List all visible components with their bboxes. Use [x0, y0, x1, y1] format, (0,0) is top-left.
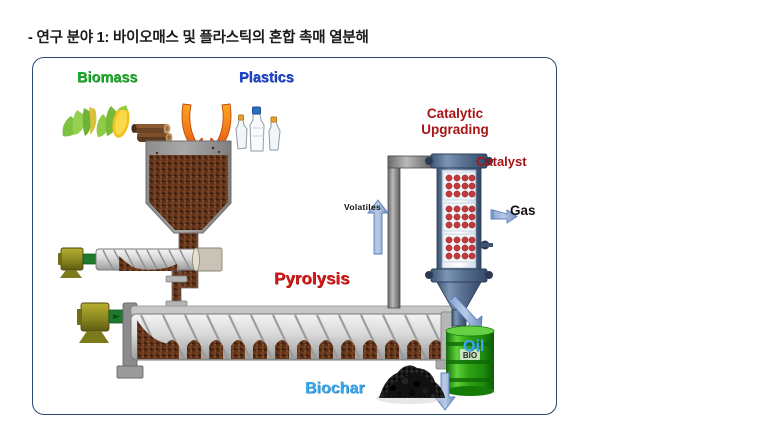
page-title: - 연구 분야 1: 바이오매스 및 플라스틱의 혼합 촉매 열분해: [28, 26, 369, 47]
catalyst-label: Catalyst: [476, 155, 527, 170]
catalytic-upgrading-label: Catalytic Upgrading: [410, 106, 500, 137]
volatiles-label: Volatiles: [344, 203, 381, 213]
catalytic-upgrading-line1: Catalytic: [410, 106, 500, 122]
gas-label: Gas: [510, 203, 536, 219]
screw-pyrolysis-reactor-icon: [77, 303, 458, 378]
biochar-pile-icon: [376, 365, 445, 404]
plastics-label: Plastics: [239, 70, 294, 87]
corn-cob-icon: [97, 105, 133, 140]
catalytic-upgrading-line2: Upgrading: [410, 122, 500, 138]
catalytic-co-pyrolysis-process-diagram: BIO Biomass Plastics Catalytic Upgrading…: [32, 57, 557, 415]
plastic-bottle-icon: [269, 117, 280, 150]
oil-label: Oil: [463, 338, 484, 356]
corn-leaf-icon: [62, 107, 96, 136]
drop-chute-icon: [166, 271, 187, 307]
plastic-bottle-icon: [236, 115, 247, 149]
oil-barrel-icon: BIO: [444, 326, 496, 396]
biomass-label: Biomass: [77, 70, 137, 87]
biochar-label: Biochar: [305, 380, 365, 398]
volatiles-riser-pipe-icon: [388, 156, 434, 308]
plastic-bottle-icon: [250, 107, 265, 151]
pyrolysis-label: Pyrolysis: [274, 269, 350, 289]
wood-logs-icon: [131, 124, 172, 142]
